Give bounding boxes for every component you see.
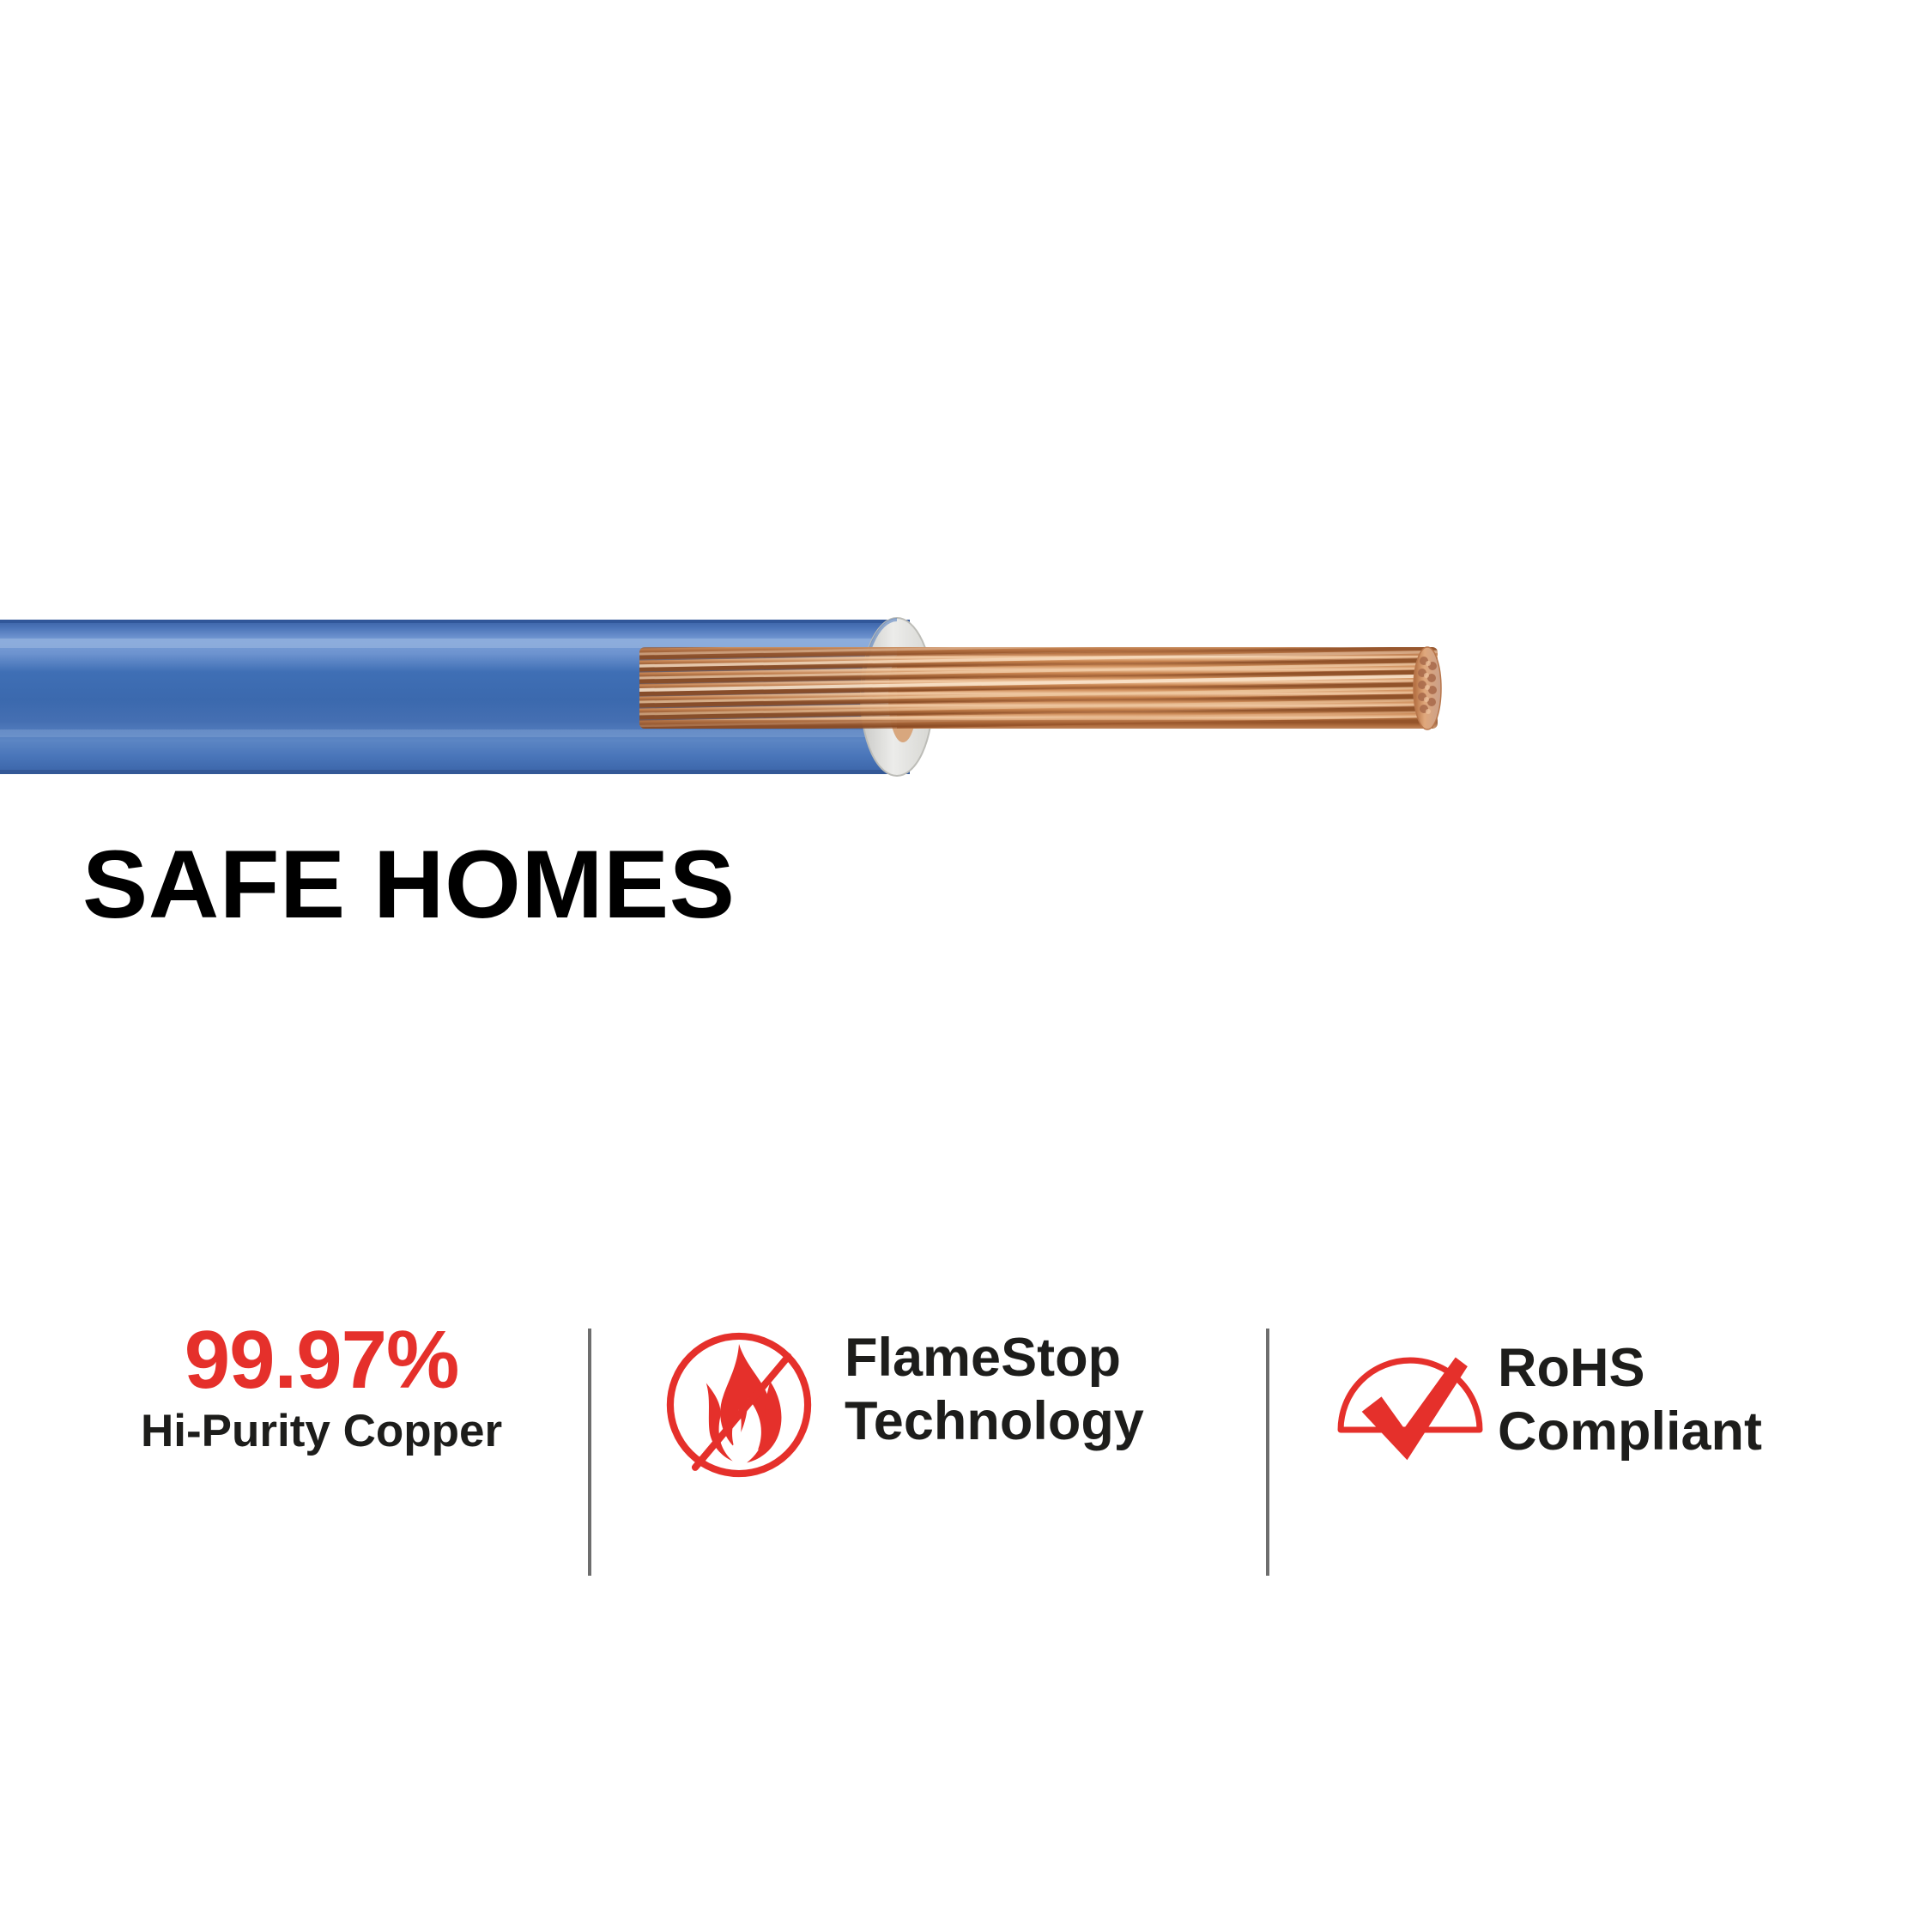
flamestop-label: FlameStop Technology — [845, 1327, 1144, 1453]
badge-flamestop-technology: FlameStop Technology — [661, 1322, 1227, 1579]
product-banner: SAFE HOMES 99.97% Hi-Purity Copper — [0, 0, 1932, 1931]
no-flame-icon-svg — [661, 1327, 817, 1483]
cable-image — [0, 601, 1511, 781]
conductor-end-face — [1414, 647, 1441, 729]
badge-divider-1 — [588, 1329, 591, 1576]
feature-badge-row: 99.97% Hi-Purity Copper — [0, 1322, 1932, 1596]
purity-label: Hi-Purity Copper — [141, 1406, 502, 1456]
badge-hi-purity-copper: 99.97% Hi-Purity Copper — [129, 1322, 558, 1579]
cable-illustration — [0, 601, 1511, 781]
rohs-label: RoHS Compliant — [1498, 1337, 1762, 1463]
no-flame-icon — [661, 1327, 817, 1483]
page-title: SAFE HOMES — [82, 837, 735, 933]
purity-percentage-value: 99.97% — [185, 1322, 459, 1399]
rohs-check-dome-icon — [1335, 1341, 1486, 1469]
rohs-check-dome-icon-svg — [1335, 1341, 1486, 1469]
badge-divider-2 — [1266, 1329, 1269, 1576]
badge-rohs-compliant: RoHS Compliant — [1335, 1322, 1884, 1579]
